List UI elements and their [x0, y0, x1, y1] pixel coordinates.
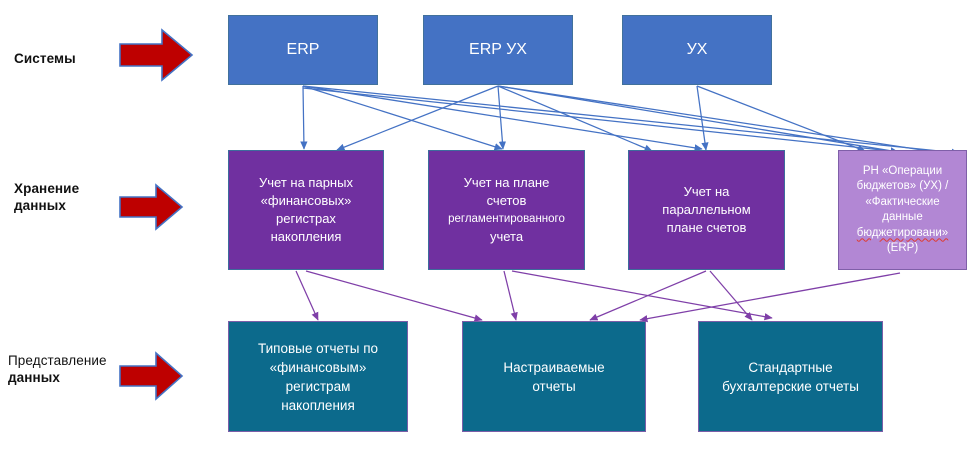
edge-erp-to-paired-registers — [303, 86, 304, 149]
node-erp-label: ERP — [235, 40, 371, 60]
edge-budget-to-custom — [640, 273, 900, 320]
row-label-systems: Системы — [14, 50, 114, 67]
node-standard-fin-reports[interactable]: Типовые отчеты по «финансовым» регистрам… — [228, 321, 408, 432]
node-paired-registers[interactable]: Учет на парных «финансовых» регистрах на… — [228, 150, 384, 270]
line-3: регистрах — [276, 211, 336, 226]
red-right-arrow-icon-systems — [118, 26, 194, 89]
line-5-misspelled: бюджетировани» — [857, 227, 948, 239]
row-label-storage-line2: данных — [14, 197, 119, 214]
line-4: учета — [490, 229, 523, 244]
edge-erp-to-reg-chart — [303, 86, 502, 149]
red-right-arrow-icon-storage — [118, 182, 184, 237]
node-ux[interactable]: УХ — [622, 15, 772, 85]
edge-erpux-to-budget-register-2 — [498, 86, 962, 156]
node-budget-register[interactable]: РН «Операции бюджетов» (УХ) / «Фактическ… — [838, 150, 967, 270]
node-erp-ux[interactable]: ERP УХ — [423, 15, 573, 85]
node-ux-label: УХ — [629, 40, 765, 60]
line-4: накопления — [281, 398, 355, 413]
line-2: «финансовых» — [261, 193, 352, 208]
systems-to-storage-connectors — [303, 86, 962, 158]
line-4: данные — [882, 211, 922, 223]
diagram-canvas: Системы Хранение данных Представление да… — [0, 0, 974, 454]
line-3: регистрам — [286, 379, 351, 394]
edge-ux-to-parallel-chart — [697, 86, 706, 150]
node-erp-ux-label: ERP УХ — [430, 40, 566, 60]
node-reg-chart-label: Учет на плане счетов регламентированного… — [435, 174, 578, 246]
node-budget-register-label: РН «Операции бюджетов» (УХ) / «Фактическ… — [845, 164, 960, 257]
node-standard-fin-reports-label: Типовые отчеты по «финансовым» регистрам… — [235, 339, 401, 415]
edge-paired-to-standard-fin — [296, 271, 318, 320]
edge-erp-to-budget-register-low — [303, 88, 957, 158]
line-1: РН «Операции — [863, 165, 942, 177]
line-3: регламентированного — [448, 213, 565, 225]
node-parallel-chart-label: Учет на параллельном плане счетов — [635, 183, 778, 237]
red-right-arrow-icon-presentation — [118, 350, 184, 407]
node-reg-chart[interactable]: Учет на плане счетов регламентированного… — [428, 150, 585, 270]
row-label-systems-text: Системы — [14, 51, 76, 66]
node-custom-reports-label: Настраиваемые отчеты — [469, 358, 639, 396]
line-2: «финансовым» — [270, 360, 367, 375]
line-1: Стандартные — [748, 360, 832, 375]
node-custom-reports[interactable]: Настраиваемые отчеты — [462, 321, 646, 432]
node-accounting-reports-label: Стандартные бухгалтерские отчеты — [705, 358, 876, 396]
line-1: Учет на парных — [259, 175, 353, 190]
line-6: (ERP) — [887, 242, 918, 254]
edge-ux-to-budget-register — [697, 86, 865, 151]
line-1: Учет на — [684, 184, 730, 199]
edge-parallel-to-custom — [590, 271, 706, 320]
line-2: бюджетов» (УХ) / — [857, 180, 949, 192]
line-2: бухгалтерские отчеты — [722, 379, 859, 394]
edge-paired-to-custom — [306, 271, 482, 320]
row-label-storage: Хранение данных — [14, 180, 119, 214]
edge-regchart-to-custom — [504, 271, 516, 320]
edge-erp-to-budget-register — [303, 86, 959, 153]
edge-regchart-to-accounting — [512, 271, 772, 318]
line-3: «Фактические — [865, 196, 939, 208]
row-label-storage-line1: Хранение — [14, 180, 119, 197]
node-erp[interactable]: ERP — [228, 15, 378, 85]
node-paired-registers-label: Учет на парных «финансовых» регистрах на… — [235, 174, 377, 246]
line-2: счетов — [487, 193, 527, 208]
edge-parallel-to-accounting — [710, 271, 752, 320]
line-4: накопления — [271, 229, 342, 244]
line-1: Типовые отчеты по — [258, 341, 378, 356]
line-2: отчеты — [532, 379, 575, 394]
node-accounting-reports[interactable]: Стандартные бухгалтерские отчеты — [698, 321, 883, 432]
line-3: плане счетов — [667, 220, 747, 235]
edge-erpux-to-parallel-chart — [498, 86, 652, 151]
storage-to-presentation-connectors — [296, 271, 900, 320]
line-1: Настраиваемые — [503, 360, 604, 375]
line-1: Учет на плане — [464, 175, 550, 190]
node-parallel-chart[interactable]: Учет на параллельном плане счетов — [628, 150, 785, 270]
line-2: параллельном — [662, 202, 750, 217]
